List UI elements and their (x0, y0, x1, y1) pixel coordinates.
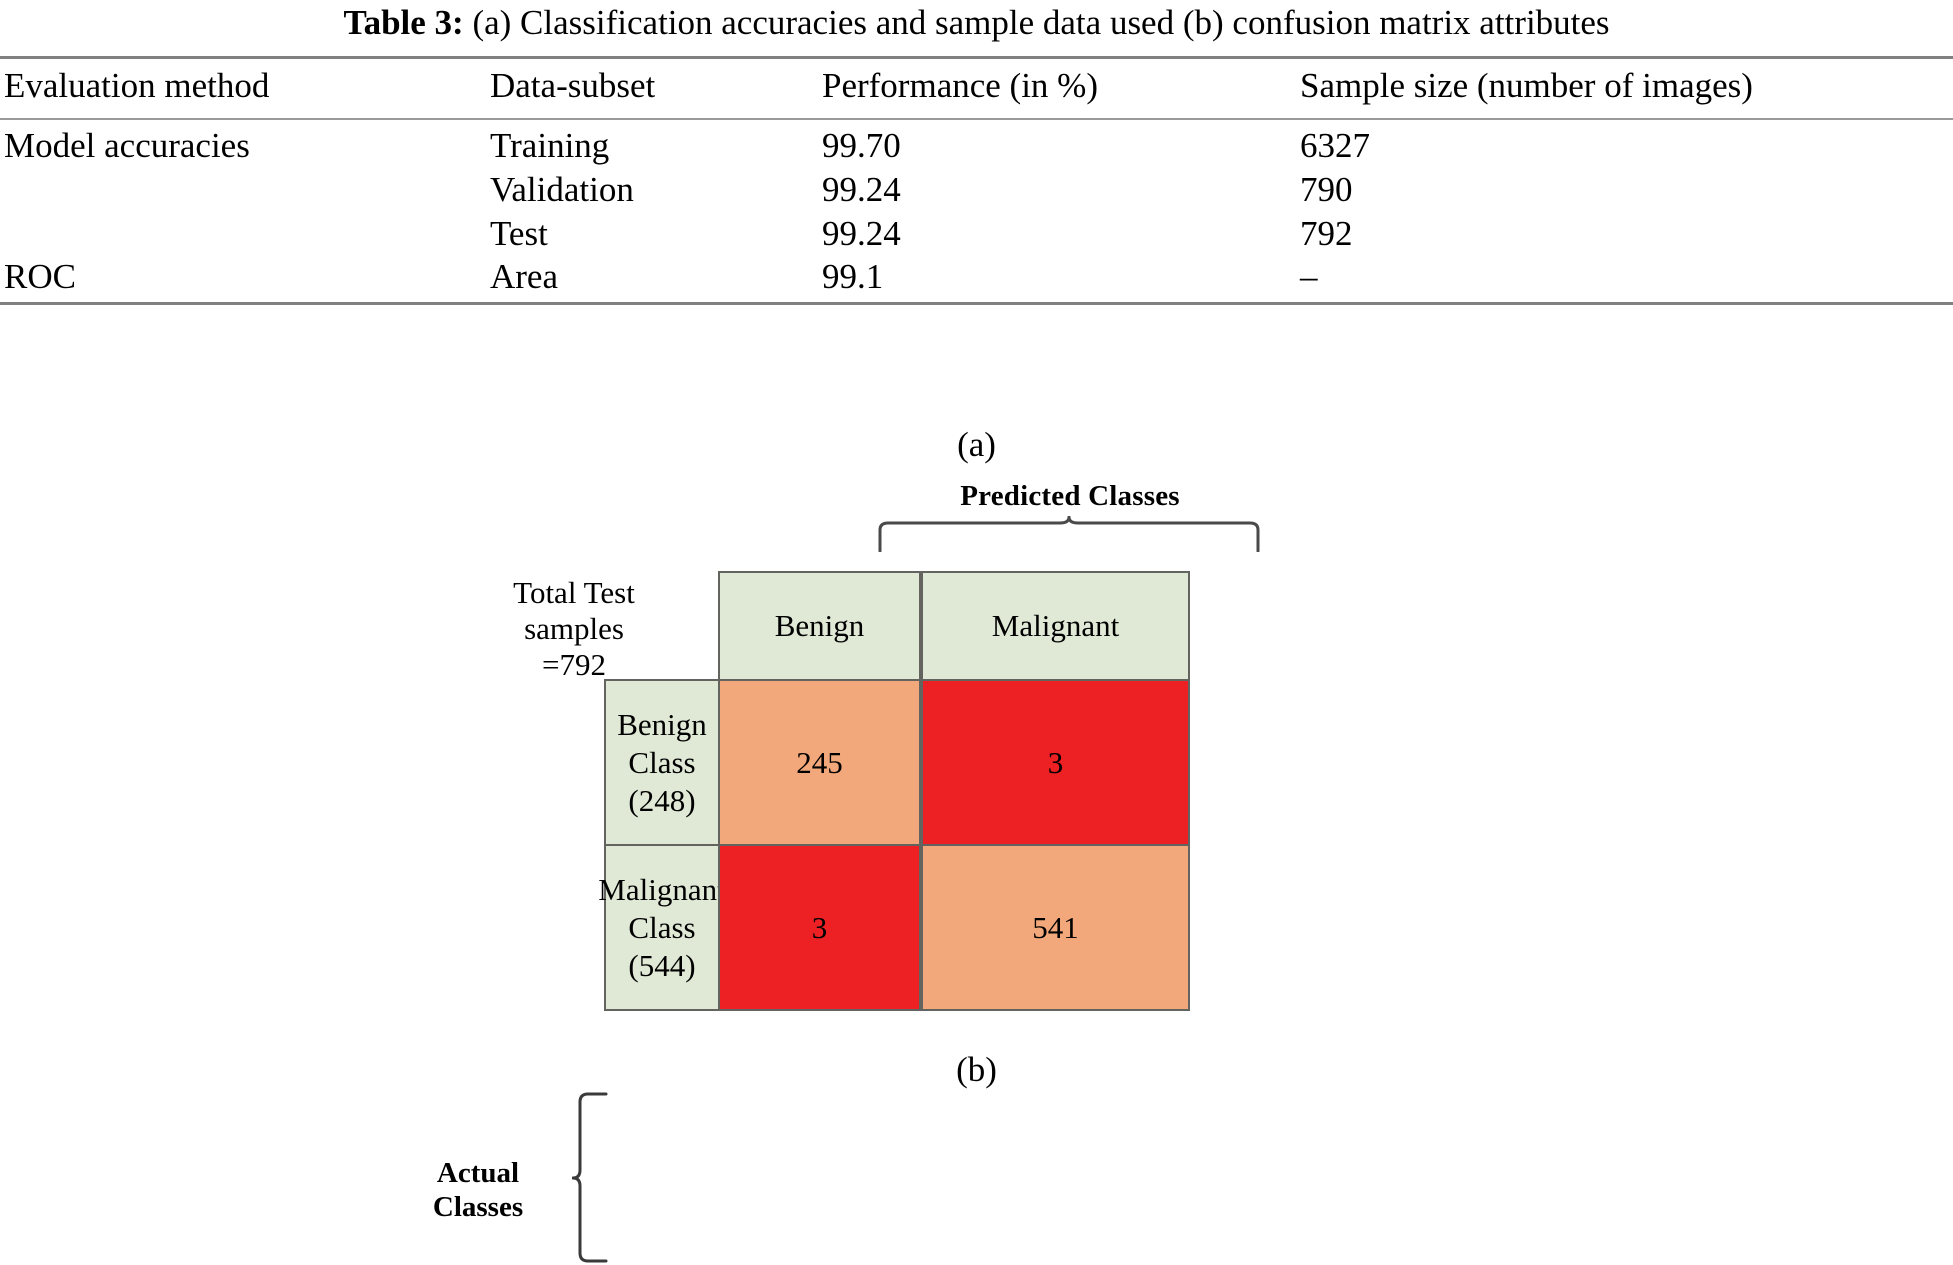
actual-classes-brace-icon (572, 1090, 608, 1265)
subcaption-b: (b) (0, 1050, 1953, 1090)
caption-rest: (a) Classification accuracies and sample… (464, 3, 1610, 42)
cell-evaluation-method: ROC (4, 255, 76, 299)
total-test-samples-line3: =792 (434, 647, 714, 683)
column-header-performance: Performance (in %) (822, 64, 1098, 108)
total-test-samples-line1: Total Test (434, 575, 714, 611)
predicted-classes-label: Predicted Classes (860, 480, 1280, 513)
cell-data-subset: Validation (490, 168, 634, 212)
cell-performance: 99.24 (822, 212, 901, 256)
total-test-samples-label: Total Test samples =792 (434, 575, 714, 683)
cell-performance: 99.70 (822, 124, 901, 168)
actual-classes-label: Actual Classes (398, 1156, 558, 1224)
table-row: Test 99.24 792 (0, 212, 1953, 260)
table-caption: Table 3: (a) Classification accuracies a… (0, 2, 1953, 44)
actual-row-label-malignant: Malignant Class (544) (604, 844, 720, 1011)
matrix-cell-malignant-benign: 3 (718, 844, 921, 1011)
predicted-header-benign: Benign (718, 571, 921, 681)
table-header-row: Evaluation method Data-subset Performanc… (0, 64, 1953, 112)
matrix-cell-malignant-malignant: 541 (921, 844, 1190, 1011)
caption-bold-prefix: Table 3: (343, 3, 463, 42)
table-top-rule (0, 56, 1953, 59)
cell-sample-size: – (1300, 255, 1318, 299)
table-header-rule (0, 118, 1953, 120)
actual-row-label-malignant-line1: Malignant (598, 871, 725, 909)
cell-performance: 99.1 (822, 255, 883, 299)
actual-row-label-benign-line1: Benign Class (606, 706, 718, 782)
column-header-data-subset: Data-subset (490, 64, 655, 108)
cell-data-subset: Area (490, 255, 558, 299)
table-row: Validation 99.24 790 (0, 168, 1953, 216)
total-test-samples-line2: samples (434, 611, 714, 647)
actual-row-label-benign: Benign Class (248) (604, 679, 720, 846)
cell-performance: 99.24 (822, 168, 901, 212)
confusion-matrix-figure: Predicted Classes Actual Classes Total T… (0, 460, 1953, 1050)
actual-classes-label-line1: Actual (398, 1156, 558, 1190)
cell-evaluation-method: Model accuracies (4, 124, 250, 168)
cell-sample-size: 792 (1300, 212, 1353, 256)
matrix-cell-benign-malignant: 3 (921, 679, 1190, 846)
cell-data-subset: Training (490, 124, 609, 168)
table-row: Model accuracies Training 99.70 6327 (0, 124, 1953, 172)
cell-sample-size: 6327 (1300, 124, 1370, 168)
actual-row-label-malignant-line2: Class (544) (598, 909, 725, 985)
subcaption-a: (a) (0, 425, 1953, 465)
predicted-classes-brace-icon (874, 516, 1264, 552)
cell-sample-size: 790 (1300, 168, 1353, 212)
actual-row-label-benign-line2: (248) (606, 782, 718, 820)
column-header-sample-size: Sample size (number of images) (1300, 64, 1753, 108)
actual-classes-label-line2: Classes (398, 1190, 558, 1224)
cell-data-subset: Test (490, 212, 548, 256)
column-header-evaluation-method: Evaluation method (4, 64, 269, 108)
predicted-header-malignant: Malignant (921, 571, 1190, 681)
matrix-cell-benign-benign: 245 (718, 679, 921, 846)
table-row: ROC Area 99.1 – (0, 255, 1953, 303)
confusion-matrix: Total Test samples =792 Benign Malignant… (604, 571, 1190, 1011)
